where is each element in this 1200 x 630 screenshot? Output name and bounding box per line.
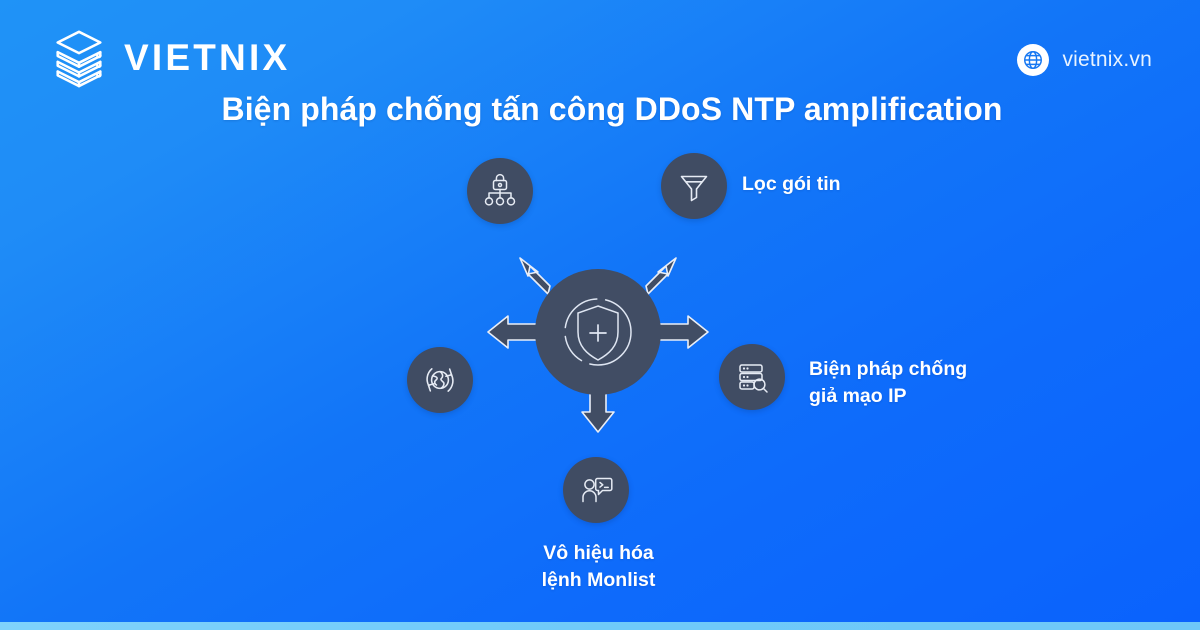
shield-plus-icon xyxy=(478,220,718,444)
globe-refresh-icon xyxy=(407,347,473,413)
user-terminal-icon xyxy=(563,457,629,523)
node-monlist-label: Vô hiệu hóa lệnh Monlist xyxy=(496,540,701,593)
node-spoof-label-line-1: Biện pháp chống xyxy=(809,356,967,383)
node-spoof-label-line-2: giả mạo IP xyxy=(809,383,967,410)
lock-hierarchy-icon xyxy=(467,158,533,224)
node-monlist-label-line-1: Vô hiệu hóa xyxy=(496,540,701,567)
poster-canvas: VIETNIX vietnix.vn Biện pháp chống tấn c… xyxy=(0,0,1200,630)
node-filter-label: Lọc gói tin xyxy=(742,171,841,198)
node-monlist-label-line-2: lệnh Monlist xyxy=(496,567,701,594)
node-filter-label-line-1: Lọc gói tin xyxy=(742,173,841,195)
funnel-filter-icon xyxy=(661,153,727,219)
radial-diagram: Cấu hình ACL Lọc gói tin xyxy=(0,0,1200,630)
node-spoof-label: Biện pháp chống giả mạo IP xyxy=(809,356,967,409)
server-search-icon xyxy=(719,344,785,410)
